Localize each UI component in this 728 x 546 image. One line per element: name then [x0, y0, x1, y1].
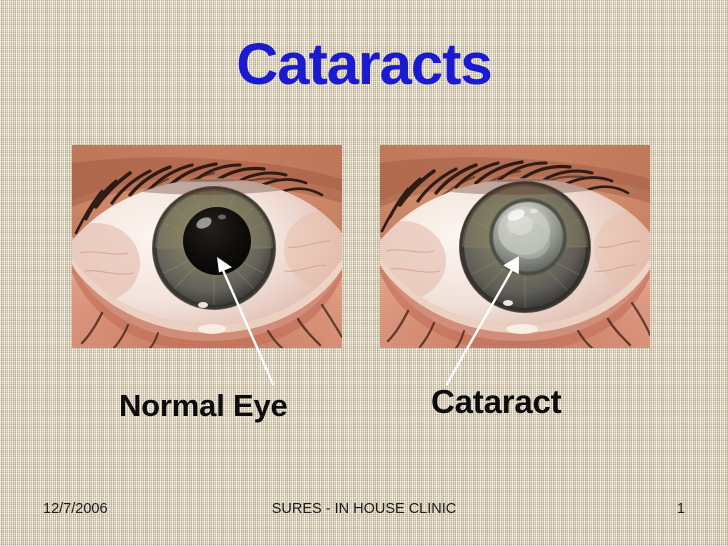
cataract-eye-photo: [380, 145, 650, 348]
page-title: Cataracts: [0, 36, 728, 94]
footer-center-text: SURES - IN HOUSE CLINIC: [0, 498, 728, 520]
normal-eye-photo: [72, 145, 342, 348]
slide-footer: 12/7/2006 SURES - IN HOUSE CLINIC 1: [0, 498, 728, 522]
normal-eye-caption: Normal Eye: [119, 390, 288, 421]
cataract-eye-caption: Cataract: [431, 385, 561, 418]
footer-page-number: 1: [677, 498, 685, 520]
cataract-eye-illustration: [380, 145, 650, 348]
cataract-eye-image: [380, 145, 650, 348]
normal-eye-illustration: [72, 145, 342, 348]
normal-eye-image: [72, 145, 342, 348]
slide-canvas: Cataracts: [0, 0, 728, 546]
